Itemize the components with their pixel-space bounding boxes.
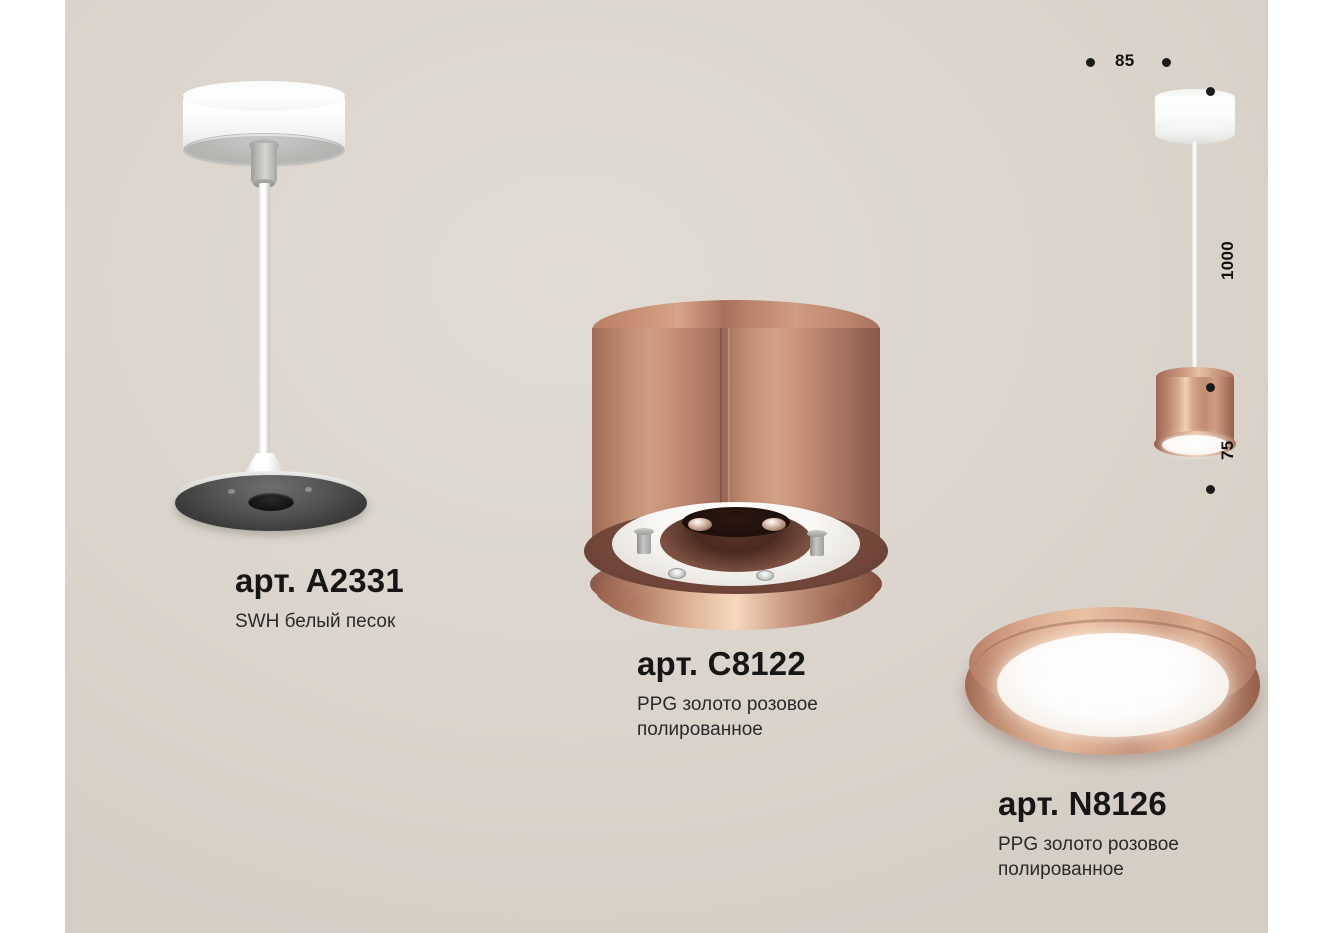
mounting-stud: [810, 534, 824, 556]
mounting-stud: [637, 532, 651, 554]
product-render-a2331: [165, 75, 465, 545]
finish-label-c8122: PPG золото розовое полированное: [637, 692, 818, 742]
assembly-render: [1145, 85, 1285, 515]
canopy-top-face: [183, 81, 345, 111]
dimension-dot-bottom-75: [1206, 485, 1215, 494]
dimension-dot-bottom-1000: [1206, 383, 1215, 392]
product-sheet: 85 1000 75 арт. A2331 SWH белый песок ар…: [0, 0, 1333, 933]
article-code-a2331: арт. A2331: [235, 562, 404, 600]
suspension-rod: [259, 183, 270, 473]
product-render-n8126: [965, 605, 1270, 770]
finish-label-n8126: PPG золото розовое полированное: [998, 832, 1179, 882]
caption-n8126: арт. N8126 PPG золото розовое полированн…: [998, 785, 1179, 882]
mounting-stud-cap: [634, 528, 654, 535]
base-disc-center-hole: [248, 493, 294, 511]
plate-screw: [668, 568, 686, 579]
article-code-c8122: арт. C8122: [637, 645, 818, 683]
bore-reflection: [688, 518, 712, 531]
mounting-stud-cap: [807, 530, 827, 537]
base-disc-screw: [305, 487, 312, 492]
product-canvas: 85 1000 75 арт. A2331 SWH белый песок ар…: [65, 0, 1268, 933]
plate-screw: [756, 570, 774, 581]
product-render-c8122: [570, 300, 900, 620]
dimension-dot-left-85: [1086, 58, 1095, 67]
dimension-label-85: 85: [1115, 51, 1135, 71]
bore-reflection: [762, 518, 786, 531]
dimension-dot-right-85: [1162, 58, 1171, 67]
dimension-label-1000: 1000: [1218, 241, 1238, 280]
caption-a2331: арт. A2331 SWH белый песок: [235, 562, 404, 634]
dimension-label-75: 75: [1218, 440, 1238, 460]
base-disc-screw: [228, 489, 235, 494]
dimension-dot-top-1000: [1206, 87, 1215, 96]
assembly-suspension: [1192, 141, 1197, 373]
finish-label-a2331: SWH белый песок: [235, 609, 404, 634]
diffuser-lens: [997, 633, 1229, 737]
article-code-n8126: арт. N8126: [998, 785, 1179, 823]
caption-c8122: арт. C8122 PPG золото розовое полированн…: [637, 645, 818, 742]
